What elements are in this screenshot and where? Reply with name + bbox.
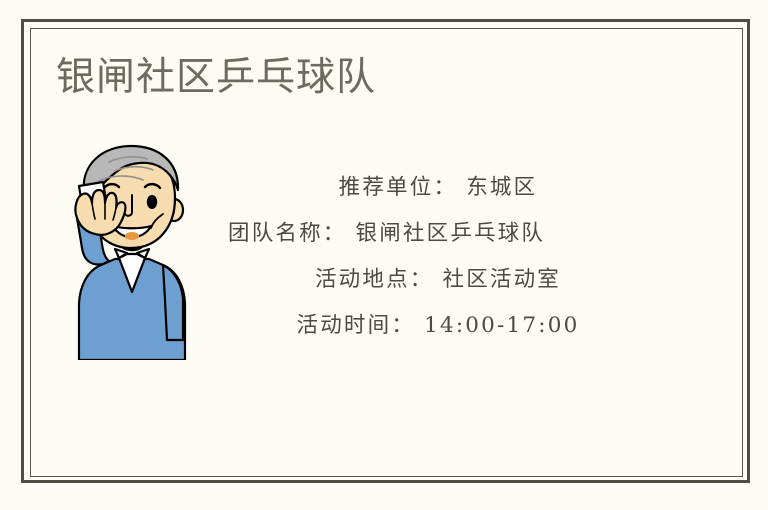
page-title: 银闸社区乒乓球队 <box>56 58 376 99</box>
tongue <box>125 232 139 240</box>
info-row: 活动地点： 社区活动室 <box>228 257 648 303</box>
team-info-block: 推荐单位： 东城区 团队名称： 银闸社区乒乓球队 活动地点： 社区活动室 活动时… <box>228 165 648 349</box>
elderly-man-illustration-svg <box>57 140 207 360</box>
info-row: 团队名称： 银闸社区乒乓球队 <box>228 211 648 257</box>
eye-right <box>147 195 157 209</box>
elderly-man-holding-phone-illustration <box>57 140 207 360</box>
poster-canvas: 银闸社区乒乓球队 <box>0 0 768 510</box>
info-row: 活动时间： 14:00-17:00 <box>228 303 648 349</box>
info-row: 推荐单位： 东城区 <box>228 165 648 211</box>
sweater-sleeve-right <box>163 265 183 340</box>
